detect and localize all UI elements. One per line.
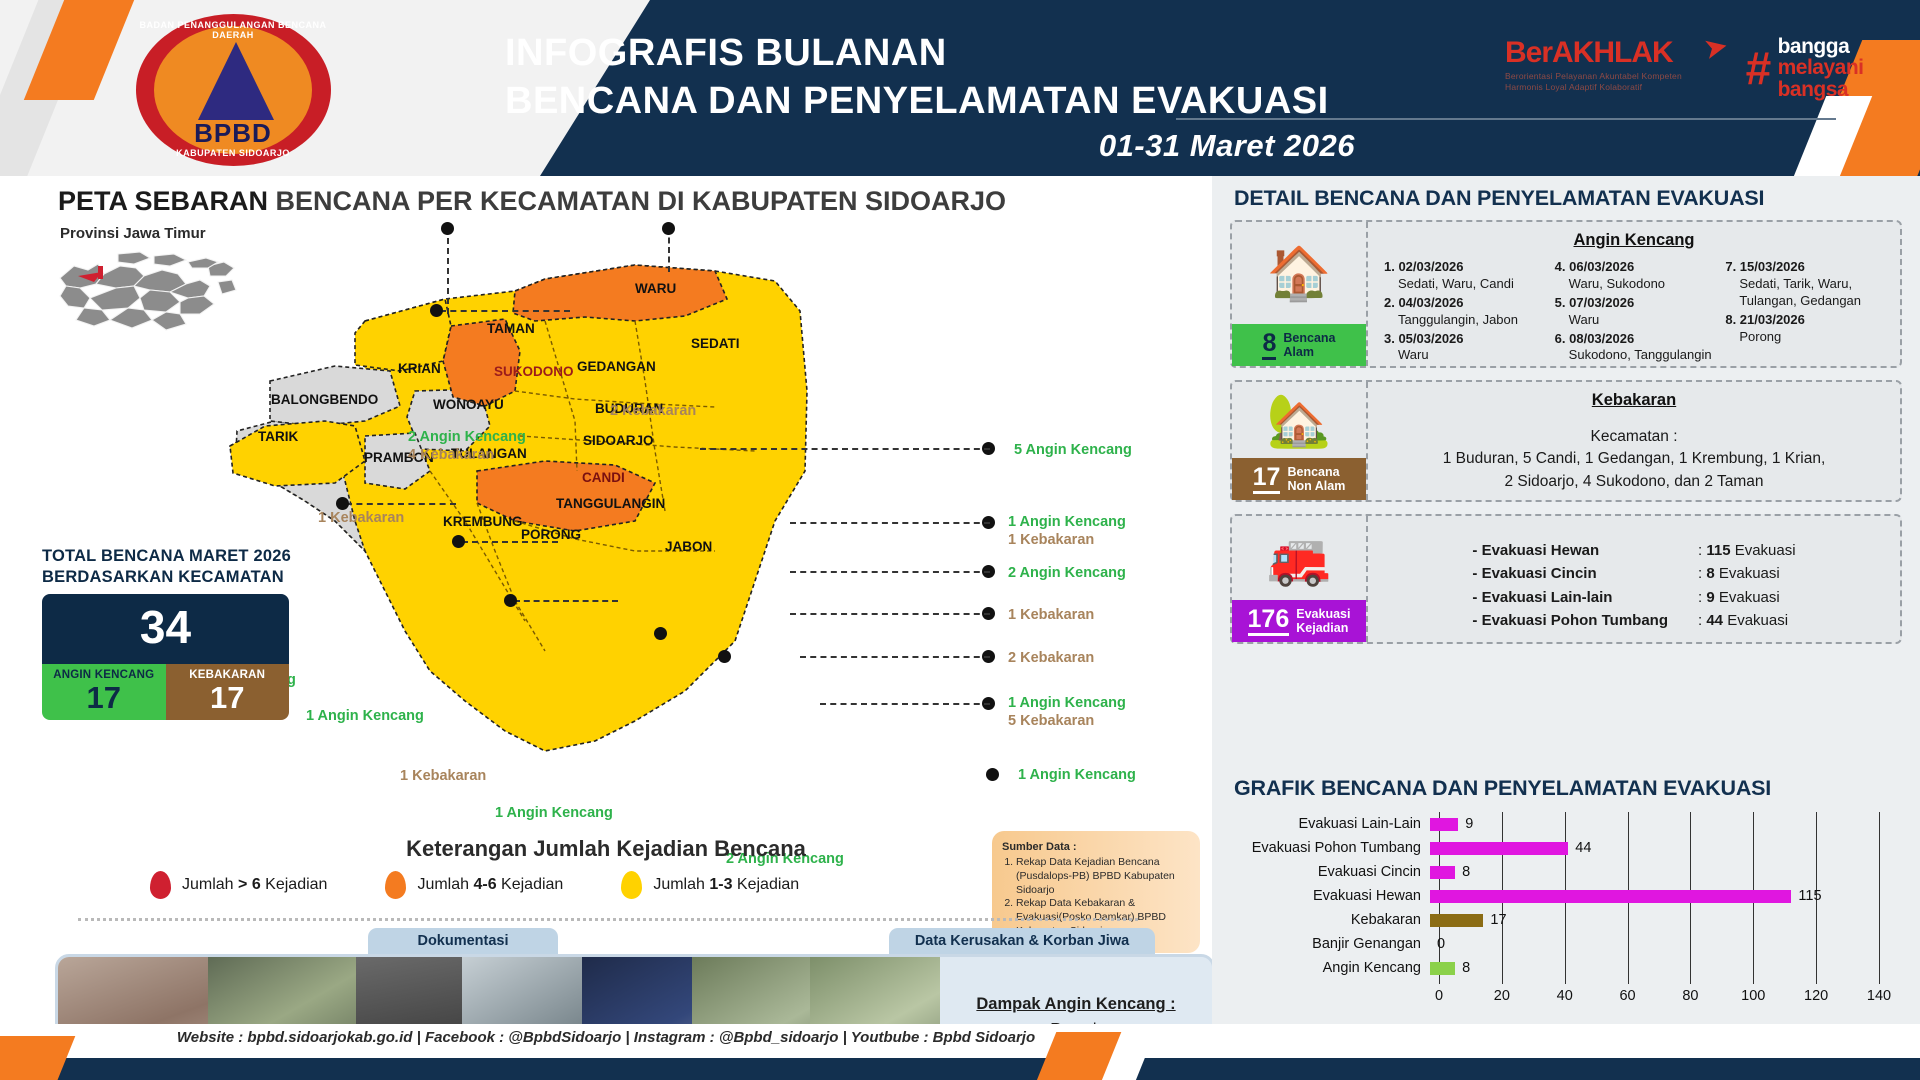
logo-triangle-icon [198, 42, 274, 120]
chart-bar [1430, 866, 1455, 879]
pin-icon-orange [385, 871, 406, 899]
legend-item-yellow: Jumlah 1-3 Kejadian [621, 871, 799, 899]
chart-bar [1430, 962, 1455, 975]
chart-bar-rows: Evakuasi Lain-Lain9Evakuasi Pohon Tumban… [1234, 812, 1906, 980]
infographic-page: BADAN PENANGGULANGAN BENCANA DAERAH BPBD… [0, 0, 1920, 1080]
event-date: 8. 21/03/2026 [1725, 312, 1890, 329]
bpbd-logo: BADAN PENANGGULANGAN BENCANA DAERAH BPBD… [118, 10, 348, 170]
left-panel: PETA SEBARAN BENCANA PER KECAMATAN DI KA… [0, 176, 1212, 1024]
callout-dot [452, 535, 465, 548]
card-title-angin-kencang: Angin Kencang [1378, 231, 1890, 250]
kecamatan-label-sukodono: SUKODONO [494, 364, 574, 379]
callout-right-4: 2 Kebakaran [1008, 649, 1094, 667]
chart-row: Angin Kencang8 [1234, 956, 1906, 980]
card-icon-column: 🏡 17 Bencana Non Alam [1232, 382, 1368, 500]
legend-item-red: Jumlah > 6 Kejadian [150, 871, 327, 899]
footer-navy-bar [0, 1058, 1920, 1080]
chart-row: Kebakaran17 [1234, 908, 1906, 932]
event-date: 7. 15/03/2026 [1725, 259, 1890, 276]
evakuasi-label: - Evakuasi Cincin [1472, 562, 1668, 585]
bangga-line1: bangga [1778, 36, 1864, 57]
evakuasi-values: : 115 Evakuasi : 8 Evakuasi : 9 Evakuasi… [1698, 539, 1796, 632]
chart-category-label: Evakuasi Lain-Lain [1234, 816, 1430, 832]
count-label: Bencana Non Alam [1287, 465, 1345, 494]
total-cell-kebakaran: KEBAKARAN 17 [166, 664, 290, 720]
sidoarjo-district-map: TAMAN WARU KRIAN SUKODONO GEDANGAN SEDAT… [215, 221, 855, 841]
evakuasi-label: - Evakuasi Hewan [1472, 539, 1668, 562]
total-bencana-box: TOTAL BENCANA MARET 2026 BERDASARKAN KEC… [42, 546, 302, 720]
berakhlak-logo: BerAKHLAK ➤ Berorientasi Pelayanan Akunt… [1505, 38, 1682, 94]
bar-chart: Evakuasi Lain-Lain9Evakuasi Pohon Tumban… [1234, 812, 1906, 1012]
total-value: 34 [42, 594, 289, 664]
kecamatan-label-jabon: JABON [665, 539, 712, 554]
evakuasi-value: : 9 Evakuasi [1698, 586, 1796, 609]
event-date: 6. 08/03/2026 [1555, 331, 1720, 348]
chart-value-label: 9 [1465, 816, 1473, 832]
total-heading: TOTAL BENCANA MARET 2026 BERDASARKAN KEC… [42, 546, 302, 587]
card-title-kebakaran: Kebakaran [1378, 391, 1890, 410]
evakuasi-value: : 44 Evakuasi [1698, 609, 1796, 632]
card-kebakaran: 🏡 17 Bencana Non Alam Kebakaran Kecamata… [1230, 380, 1902, 502]
event-locations: Waru [1384, 347, 1549, 364]
callout-right-6: 1 Angin Kencang [1018, 766, 1136, 784]
firefighter-icon: 🚒 [1232, 516, 1366, 600]
event-locations: Porong [1725, 329, 1890, 346]
legend-label: Jumlah > 6 Kejadian [182, 876, 327, 894]
count-value: 17 [1253, 464, 1281, 493]
callout-bottom-0: 1 Angin Kencang [495, 804, 613, 822]
right-panel: DETAIL BENCANA DAN PENYELAMATAN EVAKUASI… [1212, 176, 1920, 1024]
card-body: Kebakaran Kecamatan : 1 Buduran, 5 Candi… [1368, 382, 1900, 500]
kecamatan-label-tarik: TARIK [258, 429, 298, 444]
count-value: 176 [1248, 606, 1290, 635]
chart-tick-label: 0 [1435, 988, 1443, 1004]
berakhlak-sub-line2: Harmonis Loyal Adaptif Kolaboratif [1505, 82, 1682, 93]
callout-right-3: 1 Kebakaran [1008, 606, 1094, 624]
leader-line [447, 228, 449, 314]
count-value: 8 [1262, 330, 1276, 359]
chart-category-label: Evakuasi Hewan [1234, 888, 1430, 904]
callout-top-2: 1 Kebakaran [318, 509, 404, 527]
event-date: 1. 02/03/2026 [1384, 259, 1549, 276]
detail-section-heading: DETAIL BENCANA DAN PENYELAMATAN EVAKUASI [1234, 186, 1764, 211]
province-label: Provinsi Jawa Timur [60, 225, 206, 242]
chart-category-label: Kebakaran [1234, 912, 1430, 928]
legend-label: Jumlah 1-3 Kejadian [653, 876, 799, 894]
page-title-line2: BENCANA DAN PENYELAMATAN EVAKUASI [505, 78, 1329, 126]
total-cell-angin-kencang: ANGIN KENCANG 17 [42, 664, 166, 720]
legend-divider [78, 918, 1138, 921]
chart-value-label: 17 [1490, 912, 1506, 928]
bangga-line2: melayani [1778, 57, 1864, 78]
chart-bar [1430, 818, 1458, 831]
count-label: Bencana Alam [1283, 331, 1335, 360]
map-title-strong: PETA SEBARAN [58, 186, 268, 216]
count-bar-bencana-alam: 8 Bencana Alam [1232, 324, 1366, 366]
count-bar-bencana-non-alam: 17 Bencana Non Alam [1232, 458, 1366, 500]
card-body: Angin Kencang 1. 02/03/2026Sedati, Waru,… [1368, 222, 1900, 366]
callout-right-1: 1 Angin Kencang 1 Kebakaran [1008, 513, 1126, 549]
card-body: - Evakuasi Hewan - Evakuasi Cincin - Eva… [1368, 516, 1900, 642]
chart-tick-label: 60 [1619, 988, 1635, 1004]
bangga-text: bangga melayani bangsa [1778, 36, 1864, 100]
angin-kencang-column-2: 4. 06/03/2026Waru, Sukodono 5. 07/03/202… [1549, 259, 1720, 366]
chart-row: Evakuasi Cincin8 [1234, 860, 1906, 884]
callout-line: 4 Kebakaran [408, 446, 526, 464]
event-locations: Sukodono, Tanggulangin [1555, 347, 1720, 364]
callout-dot [662, 222, 675, 235]
event-locations: Tanggulangin, Jabon [1384, 312, 1549, 329]
callout-line: 2 Angin Kencang [408, 428, 526, 446]
kecamatan-label-sedati: SEDATI [691, 336, 740, 351]
evakuasi-label: - Evakuasi Lain-lain [1472, 586, 1668, 609]
event-date: 5. 07/03/2026 [1555, 295, 1720, 312]
date-range: 01-31 Maret 2026 [1099, 128, 1355, 164]
callout-dot [430, 304, 443, 317]
callout-dot [986, 768, 999, 781]
chart-row: Evakuasi Pohon Tumbang44 [1234, 836, 1906, 860]
chart-bar [1430, 890, 1791, 903]
map-title: PETA SEBARAN BENCANA PER KECAMATAN DI KA… [58, 186, 1006, 217]
tab-dokumentasi[interactable]: Dokumentasi [368, 928, 558, 954]
count-bar-evakuasi: 176 Evakuasi Kejadian [1232, 600, 1366, 642]
chart-bar [1430, 842, 1568, 855]
chart-category-label: Banjir Genangan [1234, 936, 1430, 952]
berakhlak-sub-line1: Berorientasi Pelayanan Akuntabel Kompete… [1505, 71, 1682, 82]
callout-top-0: 2 Angin Kencang 4 Kebakaran [408, 428, 526, 464]
pin-icon-red [150, 871, 171, 899]
chart-row: Banjir Genangan0 [1234, 932, 1906, 956]
chart-value-label: 8 [1462, 864, 1470, 880]
logo-arc-top-text: BADAN PENANGGULANGAN BENCANA DAERAH [118, 20, 348, 40]
chart-bar [1430, 914, 1483, 927]
chart-category-label: Evakuasi Cincin [1234, 864, 1430, 880]
kecamatan-label-sidoarjo: SIDOARJO [583, 433, 654, 448]
event-locations: Sedati, Waru, Candi [1384, 276, 1549, 293]
page-title-line1: INFOGRAFIS BULANAN [505, 30, 1329, 78]
event-locations: Waru, Sukodono [1555, 276, 1720, 293]
chart-category-label: Angin Kencang [1234, 960, 1430, 976]
chart-x-axis: 020406080100120140 [1439, 988, 1879, 1010]
callout-line: 1 Angin Kencang [1008, 694, 1126, 712]
map-title-rest: BENCANA PER KECAMATAN DI KABUPATEN SIDOA… [268, 186, 1006, 216]
event-date: 4. 06/03/2026 [1555, 259, 1720, 276]
event-locations: Sedati, Tarik, Waru, Tulangan, Gedangan [1725, 276, 1890, 310]
callout-line: 5 Kebakaran [1008, 712, 1126, 730]
callout-dot [441, 222, 454, 235]
callout-left-1: 1 Angin Kencang [306, 707, 424, 725]
callout-right-5: 1 Angin Kencang 5 Kebakaran [1008, 694, 1126, 730]
callout-right-0: 5 Angin Kencang [1014, 441, 1132, 459]
callout-right-2: 2 Angin Kencang [1008, 564, 1126, 582]
evakuasi-value: : 115 Evakuasi [1698, 539, 1796, 562]
card-icon-column: 🏠 8 Bencana Alam [1232, 222, 1368, 366]
chart-tick-label: 100 [1741, 988, 1765, 1004]
chart-tick-label: 140 [1867, 988, 1891, 1004]
card-icon-column: 🚒 176 Evakuasi Kejadian [1232, 516, 1368, 642]
tab-data-kerusakan[interactable]: Data Kerusakan & Korban Jiwa [889, 928, 1155, 954]
chart-tick-label: 120 [1804, 988, 1828, 1004]
chart-row: Evakuasi Hewan115 [1234, 884, 1906, 908]
evakuasi-label: - Evakuasi Pohon Tumbang [1472, 609, 1668, 632]
footer-contact-text: Website : bpbd.sidoarjokab.go.id | Faceb… [0, 1029, 1212, 1046]
callout-dot [654, 627, 667, 640]
total-cell-value: 17 [166, 682, 290, 713]
kecamatan-label-krian: KRIAN [398, 361, 441, 376]
evakuasi-labels: - Evakuasi Hewan - Evakuasi Cincin - Eva… [1472, 539, 1668, 632]
chart-value-label: 8 [1462, 960, 1470, 976]
chart-tick-label: 20 [1494, 988, 1510, 1004]
count-label: Evakuasi Kejadian [1296, 607, 1350, 636]
chart-row: Evakuasi Lain-Lain9 [1234, 812, 1906, 836]
pin-icon-yellow [621, 871, 642, 899]
flooded-house-icon: 🏠 [1232, 222, 1366, 324]
east-java-mini-map [58, 248, 238, 340]
legend-label: Jumlah 4-6 Kejadian [417, 876, 563, 894]
kecamatan-label-wonoayu: WONOAYU [433, 397, 504, 412]
kecamatan-label-balongbendo: BALONGBENDO [271, 392, 378, 407]
kebakaran-line3: 2 Sidoarjo, 4 Sukodono, dan 2 Taman [1378, 471, 1890, 493]
callout-dot [504, 594, 517, 607]
kecamatan-label-taman: TAMAN [487, 321, 535, 336]
angin-kencang-column-3: 7. 15/03/2026Sedati, Tarik, Waru, Tulang… [1719, 259, 1890, 366]
event-date: 3. 05/03/2026 [1384, 331, 1549, 348]
legend-title: Keterangan Jumlah Kejadian Bencana [0, 836, 1212, 862]
header-title-block: INFOGRAFIS BULANAN BENCANA DAN PENYELAMA… [505, 30, 1329, 125]
damage-heading: Dampak Angin Kencang : [976, 992, 1175, 1018]
angin-kencang-column-1: 1. 02/03/2026Sedati, Waru, Candi 2. 04/0… [1378, 259, 1549, 366]
chart-section-heading: GRAFIK BENCANA DAN PENYELAMATAN EVAKUASI [1234, 776, 1771, 801]
kebakaran-line2: 1 Buduran, 5 Candi, 1 Gedangan, 1 Krembu… [1378, 448, 1890, 470]
total-heading-line1: TOTAL BENCANA MARET 2026 [42, 546, 302, 567]
burning-house-icon: 🏡 [1232, 382, 1366, 458]
kebakaran-line1: Kecamatan : [1378, 426, 1890, 448]
callout-line: 1 Kebakaran [1008, 531, 1126, 549]
bangga-melayani-bangsa-logo: # bangga melayani bangsa [1745, 36, 1863, 100]
callout-top-1: 2 Kebakaran [610, 402, 696, 420]
event-locations: Waru [1555, 312, 1720, 329]
chart-value-label: 115 [1798, 888, 1821, 904]
logo-arc-bottom-text: KABUPATEN SIDOARJO [118, 148, 348, 158]
berakhlak-wordmark: BerAKHLAK [1505, 38, 1682, 68]
chart-tick-label: 80 [1682, 988, 1698, 1004]
kecamatan-label-waru: WARU [635, 281, 676, 296]
bangga-line3: bangsa [1778, 79, 1864, 100]
callout-left-2: 1 Kebakaran [400, 767, 486, 785]
legend-item-orange: Jumlah 4-6 Kejadian [385, 871, 563, 899]
hash-icon: # [1745, 45, 1771, 91]
evakuasi-value: : 8 Evakuasi [1698, 562, 1796, 585]
legend-row: Jumlah > 6 Kejadian Jumlah 4-6 Kejadian … [150, 871, 1050, 899]
kecamatan-label-tanggulangin: TANGGULANGIN [556, 496, 665, 511]
callout-dot [718, 650, 731, 663]
chart-value-label: 0 [1437, 936, 1445, 952]
card-evakuasi: 🚒 176 Evakuasi Kejadian - Evakuasi Hewan… [1230, 514, 1902, 644]
kecamatan-label-gedangan: GEDANGAN [577, 359, 656, 374]
kecamatan-label-krembung: KREMBUNG [443, 514, 523, 529]
total-cell-value: 17 [42, 682, 166, 713]
chart-category-label: Evakuasi Pohon Tumbang [1234, 840, 1430, 856]
logo-acronym: BPBD [118, 118, 348, 149]
callout-line: 1 Angin Kencang [1008, 513, 1126, 531]
kecamatan-label-candi: CANDI [582, 470, 625, 485]
page-header: BADAN PENANGGULANGAN BENCANA DAERAH BPBD… [0, 0, 1920, 176]
chart-tick-label: 40 [1557, 988, 1573, 1004]
page-footer: Website : bpbd.sidoarjokab.go.id | Faceb… [0, 1024, 1920, 1080]
chart-value-label: 44 [1575, 840, 1591, 856]
total-heading-line2: BERDASARKAN KECAMATAN [42, 567, 302, 588]
event-date: 2. 04/03/2026 [1384, 295, 1549, 312]
kecamatan-label-porong: PORONG [521, 527, 581, 542]
card-angin-kencang: 🏠 8 Bencana Alam Angin Kencang 1. 02/03/… [1230, 220, 1902, 368]
